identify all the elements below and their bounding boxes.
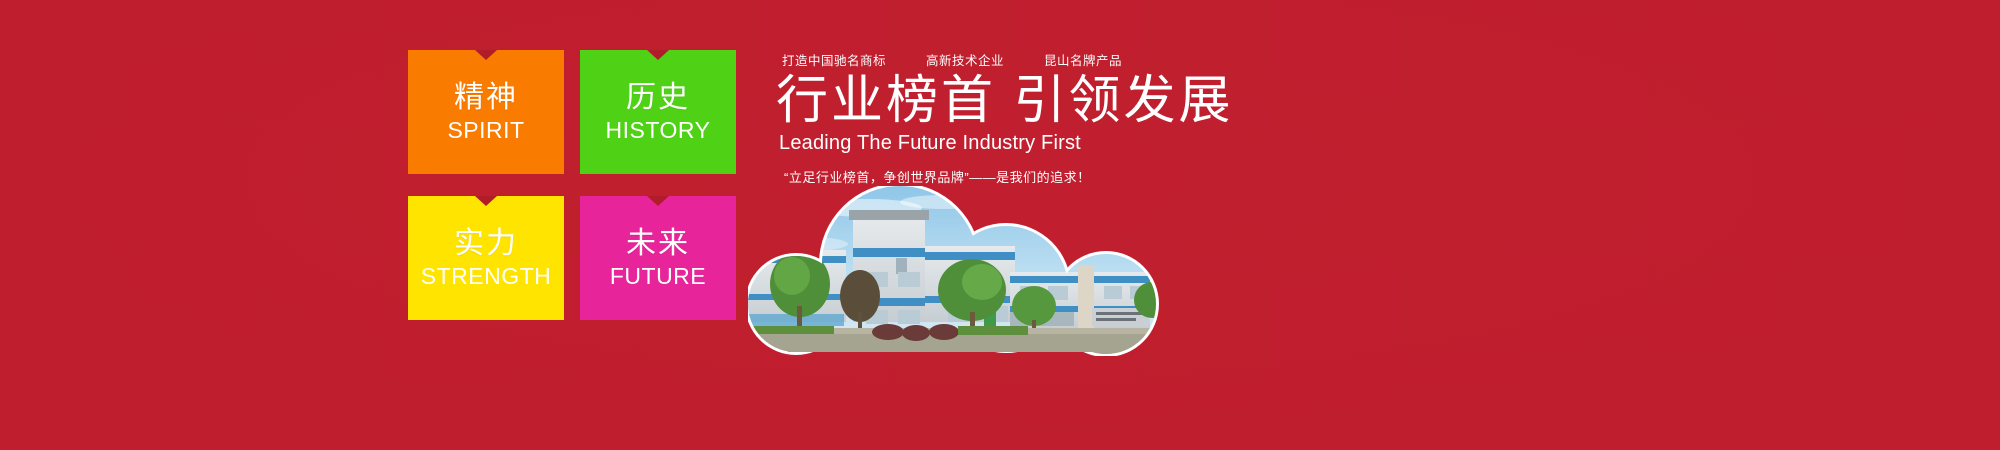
value-tiles: 精神 SPIRIT 历史 HISTORY 实力 STRENGTH 未来 FUTU…: [408, 50, 728, 320]
tile-future-cn: 未来: [626, 229, 690, 259]
tile-spirit-cn: 精神: [454, 83, 518, 113]
certification-item-2: 高新技术企业: [926, 50, 1004, 69]
banner-copy: 打造中国驰名商标 高新技术企业 昆山名牌产品 行业榜首 引领发展 Leading…: [778, 50, 1198, 186]
tile-spirit-en: SPIRIT: [447, 119, 524, 142]
factory-photo-content: [748, 186, 1178, 356]
certification-list: 打造中国驰名商标 高新技术企业 昆山名牌产品: [778, 50, 1198, 69]
tile-history-cn: 历史: [626, 83, 690, 113]
banner-slogan-quote: “立足行业榜首，争创世界品牌”——是我们的追求！: [784, 167, 1198, 186]
tile-strength[interactable]: 实力 STRENGTH: [408, 196, 564, 320]
promo-banner: 精神 SPIRIT 历史 HISTORY 实力 STRENGTH 未来 FUTU…: [0, 0, 2000, 450]
cloud-photo-svg: [748, 186, 1178, 356]
certification-item-3: 昆山名牌产品: [1044, 50, 1122, 69]
factory-photo-cloud: [748, 186, 1178, 356]
tile-strength-en: STRENGTH: [421, 265, 552, 288]
tile-strength-cn: 实力: [454, 229, 518, 259]
certification-item-1: 打造中国驰名商标: [782, 50, 886, 69]
tile-future[interactable]: 未来 FUTURE: [580, 196, 736, 320]
banner-subheadline: Leading The Future Industry First: [779, 132, 1198, 155]
tile-history[interactable]: 历史 HISTORY: [580, 50, 736, 174]
tile-spirit[interactable]: 精神 SPIRIT: [408, 50, 564, 174]
tile-history-en: HISTORY: [606, 119, 711, 142]
banner-headline: 行业榜首 引领发展: [776, 75, 1198, 128]
tile-future-en: FUTURE: [610, 265, 706, 288]
